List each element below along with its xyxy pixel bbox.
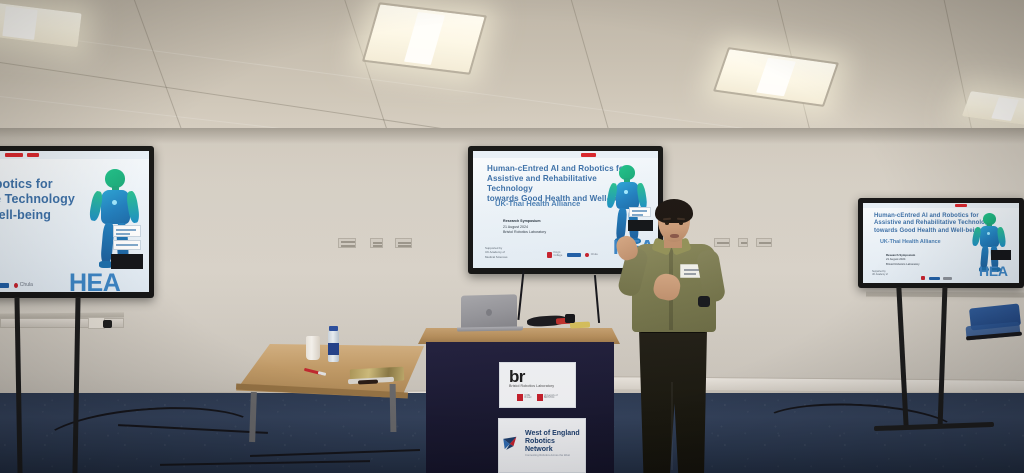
presenter-trouser-crease	[671, 382, 673, 470]
side-table-leg-2	[390, 384, 397, 432]
right-slide-location: Bristol Robotics Laboratory	[886, 262, 920, 266]
main-slide-location: Bristol Robotics Laboratory	[503, 230, 546, 236]
slide-inset-2	[113, 240, 141, 250]
right-display: Human-cEntred AI and Robotics for Assist…	[858, 198, 1024, 288]
main-slide-meta: Research Symposium 21 August 2024 Bristo…	[503, 219, 546, 236]
main-slide-footer: Supported by UK Academy of Medical Scien…	[485, 246, 508, 259]
left-display-panel: obotics for ve Technology Well-being	[0, 151, 149, 292]
presenter-hair	[655, 199, 693, 223]
laptop-apple-logo	[486, 309, 492, 316]
stacked-chairs[interactable]	[966, 306, 1024, 356]
slide-inset-1	[113, 225, 141, 237]
right-slide-meta: Research Symposium 21 August 2024 Bristo…	[886, 253, 920, 266]
west-of-england-robotics-network-sign: West of England Robotics Network Connect…	[498, 418, 586, 473]
partner-logo-nstec	[567, 253, 581, 257]
presenter-trousers	[636, 328, 710, 473]
woe-arrow-icon	[503, 436, 521, 452]
br-partner-logos: UWEBristol University ofBRISTOL	[503, 394, 572, 401]
right-slide-subtitle: UK-Thai Health Alliance	[880, 239, 941, 245]
paper-cup[interactable]	[306, 336, 320, 360]
presenter-wristwatch	[698, 296, 710, 307]
right-slide-footer-line2: UK Academy of	[872, 274, 888, 277]
ceiling-light-panel-1	[0, 0, 82, 47]
main-slide-red-tag	[581, 153, 596, 157]
br-subtitle: Bristol Robotics Laboratory	[509, 384, 554, 388]
left-slide-logo-row: Chula	[0, 279, 73, 291]
podium-device-dark	[565, 314, 575, 323]
uwe-bristol-logo: UWEBristol	[517, 394, 531, 401]
power-plug	[103, 320, 112, 328]
right-slide-hea-logo: HEA	[979, 263, 1008, 279]
right-slide: Human-cEntred AI and Robotics for Assist…	[863, 203, 1019, 283]
right-slide-logo-row	[921, 274, 981, 282]
presenter	[614, 196, 742, 473]
main-slide-logo-row: King'sCollege Chula	[547, 250, 622, 260]
right-logo-chula	[943, 277, 952, 280]
university-of-bristol-logo: University ofBRISTOL	[537, 394, 558, 401]
right-display-panel: Human-cEntred AI and Robotics for Assist…	[863, 203, 1019, 283]
main-slide-subtitle: UK-Thai Health Alliance	[495, 199, 580, 208]
ceiling-light-frame-3	[713, 47, 839, 107]
slide-red-tag-2	[27, 153, 39, 157]
partner-logo-chula: Chula	[585, 253, 597, 257]
woe-line2: Robotics Network	[525, 438, 581, 454]
main-slide-presenter: Research Symposium	[503, 219, 546, 225]
wall-ceiling-shadow	[0, 128, 1024, 144]
logo-nstec	[0, 283, 9, 288]
left-slide-hea-logo: HEA	[69, 269, 120, 292]
right-slide-inset	[991, 250, 1011, 260]
slide-red-tag	[5, 153, 23, 157]
br-wordmark: br	[509, 369, 525, 384]
laptop[interactable]	[461, 294, 517, 329]
ceiling-light-panel-4	[962, 91, 1024, 127]
right-logo-red	[921, 276, 925, 280]
presenter-eye-right	[679, 222, 683, 225]
woe-line1: West of England	[525, 430, 581, 438]
right-slide-footer: Supported by UK Academy of	[872, 271, 888, 278]
presenter-mouth	[670, 234, 679, 238]
logo-chula: Chula	[14, 283, 33, 288]
conference-room-photo: obotics for ve Technology Well-being	[0, 0, 1024, 473]
woe-tagline: Connecting Robotics Across the West	[525, 454, 581, 457]
bottle-cap	[329, 326, 338, 331]
left-slide: obotics for ve Technology Well-being	[0, 151, 149, 292]
presenter-eye-left	[665, 222, 669, 225]
right-slide-red-tag	[955, 204, 967, 207]
bristol-robotics-lab-sign: br Bristol Robotics Laboratory UWEBristo…	[499, 362, 576, 408]
wall-port-right-3	[756, 238, 772, 247]
wall-port-left-3	[395, 238, 412, 248]
wall-port-left-2	[370, 238, 383, 248]
wall-port-left-1	[338, 238, 356, 248]
ceiling-light-frame-2	[362, 2, 487, 75]
woe-logo-row: West of England Robotics Network Connect…	[503, 430, 581, 457]
partner-logo-red: King'sCollege	[547, 252, 562, 258]
right-logo-nstec	[929, 277, 940, 280]
water-bottle[interactable]	[328, 330, 339, 362]
left-display: obotics for ve Technology Well-being	[0, 146, 154, 298]
main-slide-footer-line3: Medical Sciences	[485, 255, 508, 259]
slide-inset-3	[111, 254, 143, 269]
